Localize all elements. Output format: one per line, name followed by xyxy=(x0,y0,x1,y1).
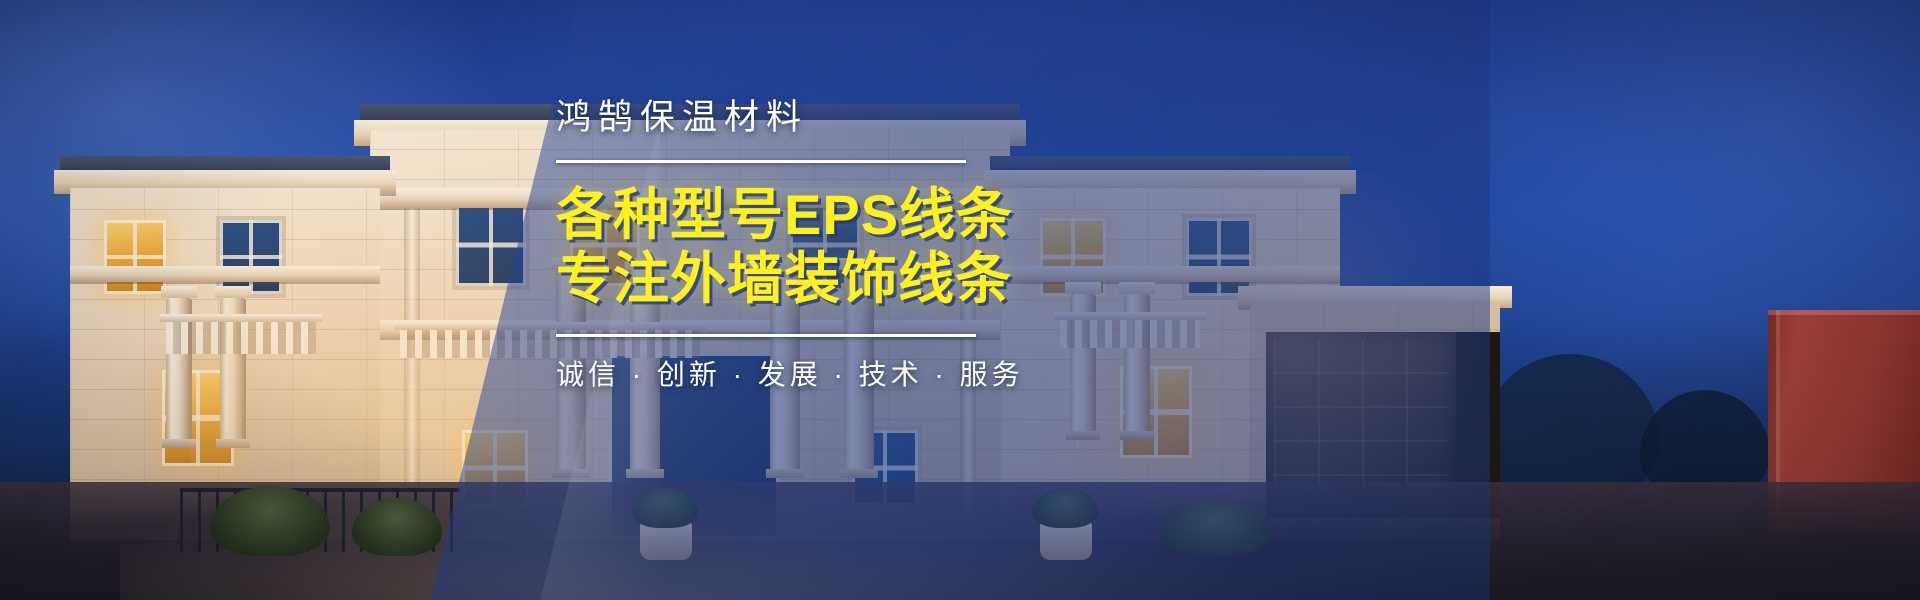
divider-bottom xyxy=(556,334,976,337)
company-name: 鸿鹄保温材料 xyxy=(556,96,1116,140)
balcony-balustrade-left xyxy=(166,320,316,354)
balcony-rail-left xyxy=(160,314,322,322)
window-right-wing-upper xyxy=(1186,218,1252,296)
headline-group: 各种型号EPS线条 专注外墙装饰线条 xyxy=(556,183,1116,311)
tagline: 诚信 · 创新 · 发展 · 技术 · 服务 xyxy=(556,353,1116,393)
planter-shrub-right xyxy=(1032,488,1098,528)
planter-shrub-left xyxy=(632,488,698,528)
window-left-wing-upper xyxy=(220,220,282,294)
headline-line-1: 各种型号EPS线条 xyxy=(556,183,1116,247)
window-upper-left xyxy=(456,204,526,286)
banner-text-block: 鸿鹄保温材料 各种型号EPS线条 专注外墙装饰线条 诚信 · 创新 · 发展 ·… xyxy=(556,96,1116,393)
pilaster xyxy=(404,200,420,530)
hero-banner: 鸿鹄保温材料 各种型号EPS线条 专注外墙装饰线条 诚信 · 创新 · 发展 ·… xyxy=(0,0,1920,600)
divider-top xyxy=(556,160,966,163)
left-wing-cornice-mid xyxy=(70,266,380,282)
headline-line-2: 专注外墙装饰线条 xyxy=(556,247,1116,311)
window-left-wing-upper-lit xyxy=(104,220,166,294)
